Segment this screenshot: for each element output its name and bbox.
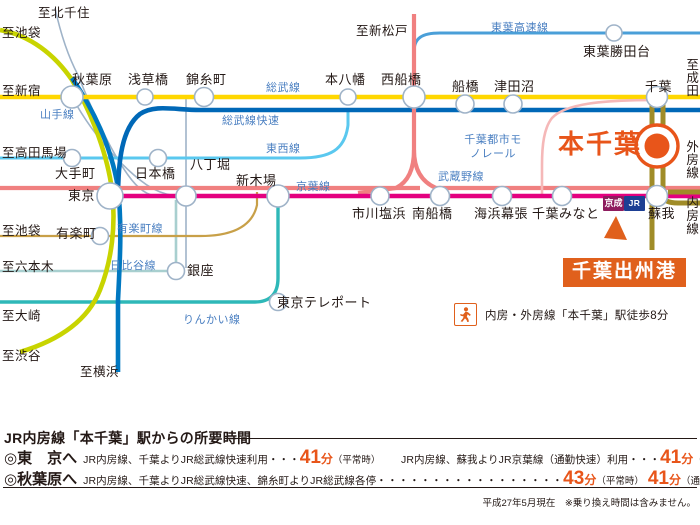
travel-row-akihabara-minutes-unit-1: 分 xyxy=(584,471,596,488)
jr-badge: JR xyxy=(624,196,645,211)
station-label-hatchobori: 八丁堀 xyxy=(190,158,231,171)
travel-row-tokyo-route-2: JR内房線、蘇我よりJR京葉線（通勤快速）利用・・・ xyxy=(390,452,660,467)
travel-row-akihabara-minutes-unit-2: 分 xyxy=(669,471,681,488)
terminal-label-sotobo: 外房線 xyxy=(684,140,697,179)
station-label-tokyoteleport: 東京テレポート xyxy=(277,296,372,309)
honchiba-highlight-marker xyxy=(636,125,678,167)
travel-row-tokyo-destination: ◎東 京へ xyxy=(4,447,77,468)
line-label-sobu-rapid: 総武線快速 xyxy=(222,116,280,127)
line-label-chiba-monorail-text: 千葉都市モノレール xyxy=(463,134,523,162)
travel-row-tokyo-minutes-unit-1: 分 xyxy=(321,450,333,467)
station-label-nihombashi: 日本橋 xyxy=(135,167,176,180)
route-map-page: .ln{fill:none;stroke-linecap:butt;} xyxy=(0,0,700,525)
terminal-label-narita: 至成田 xyxy=(684,58,697,97)
travel-row-akihabara-condition-1: （平常時） xyxy=(596,473,644,487)
station-label-kinshicho: 錦糸町 xyxy=(186,73,227,86)
terminal-label-uchibo: 内房線 xyxy=(684,196,697,235)
travel-row-tokyo-minutes-unit-2: 分 xyxy=(681,450,693,467)
terminal-label-ikebukuro-1: 至池袋 xyxy=(2,27,41,40)
travel-row-akihabara-dots: ・・・・・・・・・・・・・・・・・ xyxy=(376,473,563,488)
travel-time-panel: JR内房線「本千葉」駅からの所要時間 ◎東 京へ JR内房線、千葉よりJR総武線… xyxy=(0,425,700,525)
walking-person-icon xyxy=(454,303,477,326)
terminal-label-shinjuku: 至新宿 xyxy=(2,85,41,98)
walking-person-glyph xyxy=(459,307,472,322)
terminal-label-ikebukuro-2: 至池袋 xyxy=(2,225,41,238)
travel-row-tokyo-minutes-1: 41 xyxy=(300,447,321,469)
highlight-station-label: 本千葉 xyxy=(558,131,642,157)
station-label-chiba: 千葉 xyxy=(645,80,672,93)
keisei-badge: 京成 xyxy=(603,196,624,211)
walk-time-legend-text: 内房・外房線「本千葉」駅徒歩8分 xyxy=(485,307,669,323)
panel-bottom-rule xyxy=(3,487,697,488)
line-label-rinkai: りんかい線 xyxy=(183,315,241,326)
line-label-tozai: 東西線 xyxy=(266,144,301,155)
line-label-musashino: 武蔵野線 xyxy=(438,172,484,183)
terminal-label-shibuya: 至渋谷 xyxy=(2,350,41,363)
heading-rule xyxy=(225,438,697,439)
line-label-sobu: 総武線 xyxy=(266,83,301,94)
port-pointer xyxy=(604,216,627,240)
travel-time-heading: JR内房線「本千葉」駅からの所要時間 xyxy=(4,428,251,448)
travel-row-tokyo-condition-2: （通勤時） xyxy=(693,452,700,466)
terminal-label-yokohama: 至横浜 xyxy=(80,366,119,379)
station-label-akihabara: 秋葉原 xyxy=(72,73,113,86)
station-label-yurakucho: 有楽町 xyxy=(56,227,97,240)
station-label-kaihimmakuhari: 海浜幕張 xyxy=(474,207,528,220)
travel-row-tokyo-condition-1: （平常時） xyxy=(333,452,381,466)
travel-row-tokyo: ◎東 京へ JR内房線、千葉よりJR総武線快速利用・・・ 41 分 （平常時） … xyxy=(4,447,700,469)
line-label-yamanote: 山手線 xyxy=(40,110,75,121)
line-label-hibiya: 日比谷線 xyxy=(110,261,156,272)
terminal-label-shinmatsudo: 至新松戸 xyxy=(356,25,408,38)
walk-time-legend: 内房・外房線「本千葉」駅徒歩8分 xyxy=(454,303,669,326)
station-label-toyokatsutadai: 東葉勝田台 xyxy=(583,45,651,58)
travel-row-tokyo-minutes-2: 41 xyxy=(660,447,681,469)
travel-row-akihabara-destination: ◎秋葉原へ xyxy=(4,468,77,489)
station-label-tokyo: 東京 xyxy=(68,189,95,202)
rinkai-line xyxy=(0,196,278,302)
station-label-funabashi: 船橋 xyxy=(452,80,479,93)
station-label-shinkiba: 新木場 xyxy=(236,174,277,187)
terminal-label-takadanobaba: 至高田馬場 xyxy=(2,147,67,160)
station-label-nishifunabashi: 西船橋 xyxy=(381,73,422,86)
travel-row-tokyo-route-1: JR内房線、千葉よりJR総武線快速利用・・・ xyxy=(83,452,300,467)
jr-badge-label: JR xyxy=(629,199,641,208)
line-label-toyo-rapid: 東葉高速線 xyxy=(491,23,549,34)
station-label-ichikawashiohama: 市川塩浜 xyxy=(352,207,406,220)
port-callout-label: 千葉出州港 xyxy=(563,258,686,287)
station-label-asakusabashi: 浅草橋 xyxy=(128,73,169,86)
travel-row-akihabara-condition-2: （通勤時） xyxy=(681,473,700,487)
travel-row-akihabara-route: JR内房線、千葉よりJR総武線快速、錦糸町よりJR総武線各停 xyxy=(83,473,376,488)
terminal-label-kitasenju: 至北千住 xyxy=(38,7,90,20)
line-label-chiba-monorail: 千葉都市モノレール xyxy=(463,134,523,162)
station-label-soga: 蘇我 xyxy=(648,207,675,220)
terminal-label-roppongi: 至六本木 xyxy=(2,261,54,274)
station-label-otemachi: 大手町 xyxy=(55,167,96,180)
terminal-label-osaki: 至大崎 xyxy=(2,310,41,323)
station-label-tsudanuma: 津田沼 xyxy=(494,80,535,93)
station-label-chibaminato: 千葉みなと xyxy=(532,207,600,220)
station-label-ginza: 銀座 xyxy=(187,264,214,277)
station-label-motoyawata: 本八幡 xyxy=(325,73,366,86)
station-label-minamifunabashi: 南船橋 xyxy=(412,207,453,220)
line-label-yurakucho: 有楽町線 xyxy=(117,224,163,235)
line-label-keiyo: 京葉線 xyxy=(296,182,331,193)
rail-route-map: .ln{fill:none;stroke-linecap:butt;} xyxy=(0,0,700,425)
panel-footnote: 平成27年5月現在 ※乗り換え時間は含みません。 xyxy=(482,495,696,509)
keisei-badge-label: 京成 xyxy=(604,199,622,208)
